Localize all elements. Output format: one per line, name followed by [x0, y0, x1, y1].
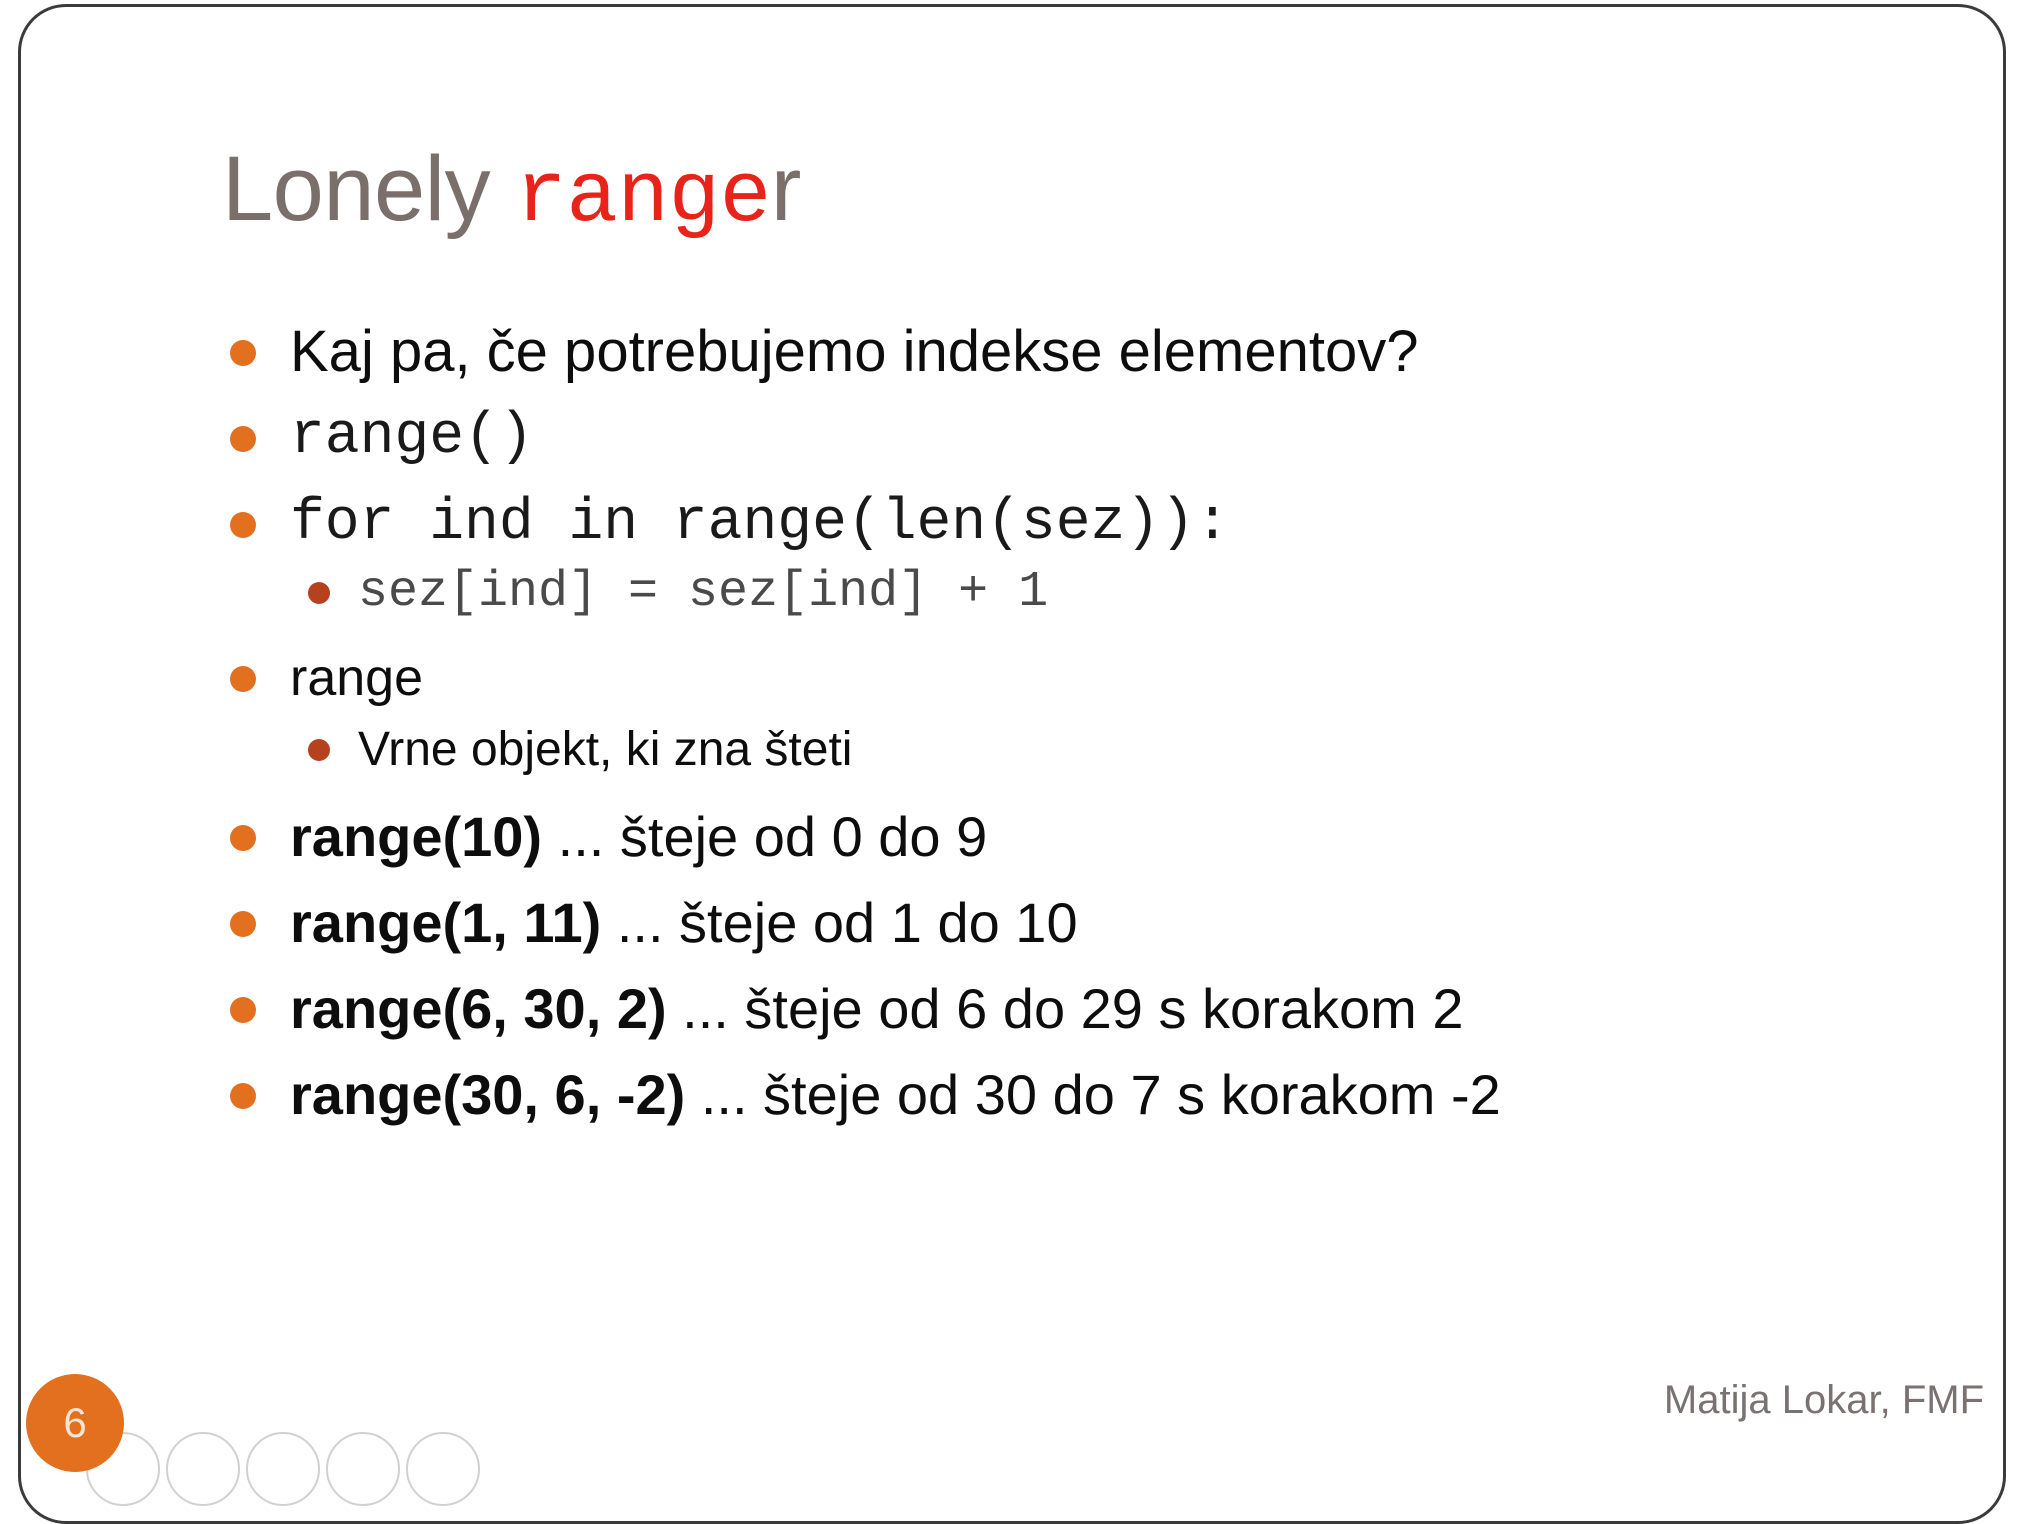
list-item-label: range(6, 30, 2) ... šteje od 6 do 29 s k…	[290, 978, 1942, 1040]
bullet-marker-icon	[230, 997, 256, 1023]
list-item-description: ... šteje od 30 do 7 s korakom -2	[685, 1063, 1501, 1126]
bullet-marker-icon	[230, 512, 256, 538]
list-item-label: Vrne objekt, ki zna šteti	[358, 722, 1942, 778]
list-item-sub: Vrne objekt, ki zna šteti	[222, 722, 1942, 778]
list-item-label: sez[ind] = sez[ind] + 1	[358, 564, 1942, 622]
list-item: range(1, 11) ... šteje od 1 do 10	[222, 892, 1942, 954]
sub-bullet-marker-icon	[308, 582, 330, 604]
bullet-marker-icon	[230, 666, 256, 692]
list-item-code-lead: range(30, 6, -2)	[290, 1063, 685, 1126]
bullet-marker-icon	[230, 825, 256, 851]
decorative-circle-row	[0, 1432, 900, 1492]
list-item: range()	[222, 406, 1942, 470]
list-item: range(10) ... šteje od 0 do 9	[222, 806, 1942, 868]
page-number-label: 6	[63, 1399, 86, 1447]
bullet-list: Kaj pa, če potrebujemo indekse elementov…	[222, 320, 1942, 1126]
title-part-plain-lead: Lonely	[222, 138, 515, 240]
list-item-label: Kaj pa, če potrebujemo indekse elementov…	[290, 320, 1942, 384]
list-item: range	[222, 648, 1942, 708]
bullet-marker-icon	[230, 340, 256, 366]
list-item: for ind in range(len(sez)):	[222, 492, 1942, 556]
list-item-description: ... šteje od 0 do 9	[542, 805, 987, 868]
bullet-marker-icon	[230, 426, 256, 452]
decorative-circle-icon	[326, 1432, 400, 1506]
slide-canvas: Lonely ranger Kaj pa, če potrebujemo ind…	[0, 0, 2020, 1464]
list-item: range(30, 6, -2) ... šteje od 30 do 7 s …	[222, 1064, 1942, 1126]
list-item-label: range	[290, 648, 1942, 708]
sub-bullet-marker-icon	[308, 739, 330, 761]
decorative-circle-icon	[246, 1432, 320, 1506]
list-item-description: ... šteje od 6 do 29 s korakom 2	[667, 977, 1464, 1040]
list-item: Kaj pa, če potrebujemo indekse elementov…	[222, 320, 1942, 384]
list-item-code-lead: range(6, 30, 2)	[290, 977, 667, 1040]
decorative-circle-icon	[166, 1432, 240, 1506]
decorative-circle-icon	[406, 1432, 480, 1506]
list-item-code-lead: range(10)	[290, 805, 542, 868]
bullet-marker-icon	[230, 1083, 256, 1109]
list-item-label: range(10) ... šteje od 0 do 9	[290, 806, 1942, 868]
list-item-label: range(1, 11) ... šteje od 1 do 10	[290, 892, 1942, 954]
bullet-marker-icon	[230, 911, 256, 937]
page-number-badge: 6	[26, 1374, 124, 1472]
list-item-label: for ind in range(len(sez)):	[290, 492, 1942, 556]
list-item-code-lead: range(1, 11)	[290, 891, 601, 954]
title-part-plain-tail: r	[771, 138, 801, 240]
list-item-description: ... šteje od 1 do 10	[601, 891, 1077, 954]
list-item: range(6, 30, 2) ... šteje od 6 do 29 s k…	[222, 978, 1942, 1040]
list-item-sub: sez[ind] = sez[ind] + 1	[222, 564, 1942, 622]
author-credit: Matija Lokar, FMF	[1664, 1378, 1984, 1423]
title-part-code: range	[515, 148, 771, 246]
list-item-label: range()	[290, 406, 1942, 470]
list-item-label: range(30, 6, -2) ... šteje od 30 do 7 s …	[290, 1064, 1942, 1126]
page-title: Lonely ranger	[222, 143, 801, 240]
